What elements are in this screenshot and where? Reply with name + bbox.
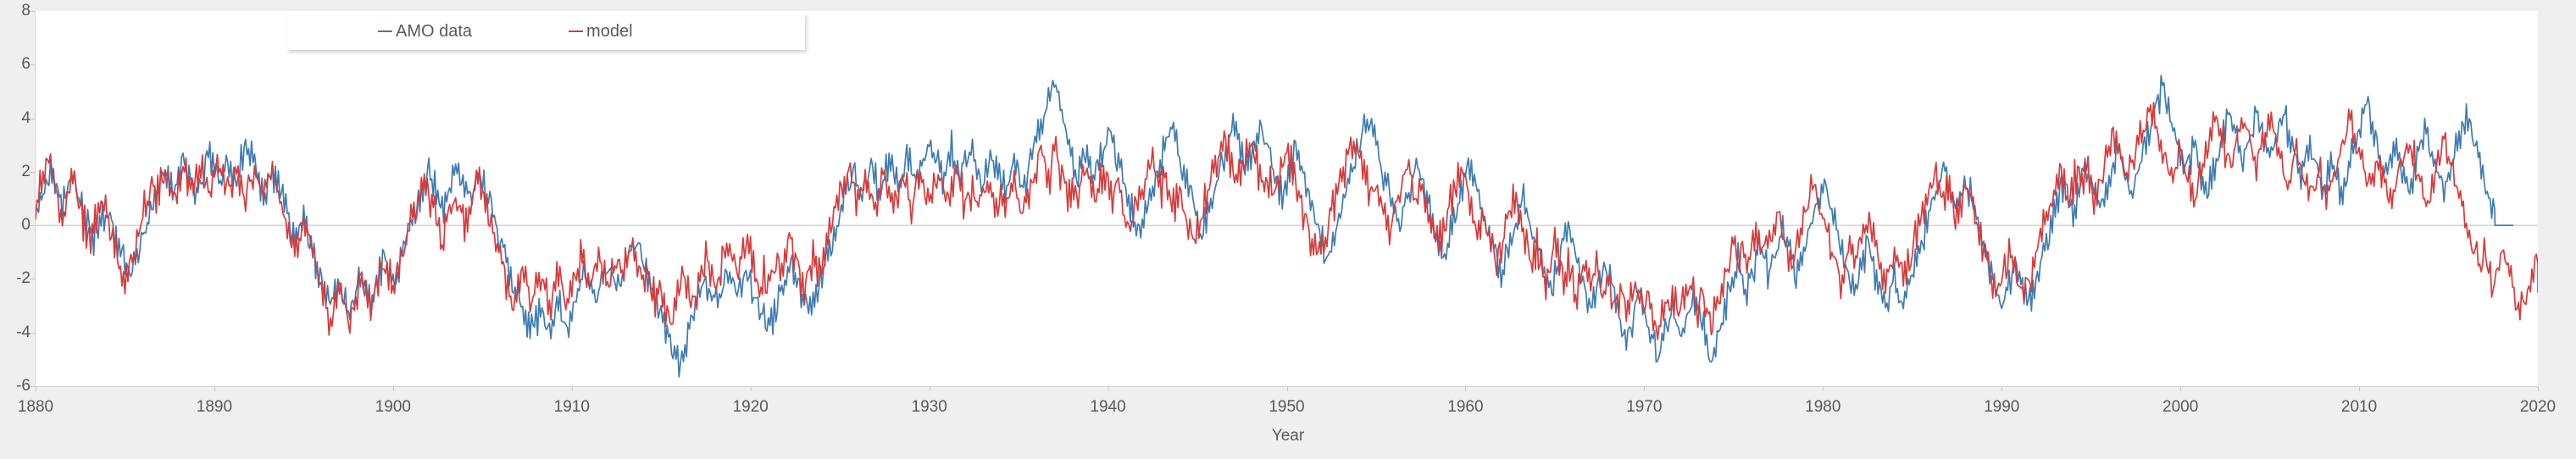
- x-tick-label: 1910: [538, 398, 606, 417]
- legend-label-model: model: [586, 23, 632, 40]
- y-tick-label: -4: [0, 324, 31, 340]
- y-tick-label: 2: [0, 163, 31, 180]
- y-tick-label: 8: [0, 3, 31, 19]
- x-axis-title: Year: [0, 427, 2576, 445]
- legend-item-model[interactable]: model: [569, 23, 632, 40]
- x-tick-mark: [2359, 386, 2360, 391]
- x-tick-mark: [214, 386, 215, 391]
- x-tick-mark: [1644, 386, 1645, 391]
- legend-swatch-model-icon: [569, 30, 583, 32]
- x-tick-mark: [1287, 386, 1288, 391]
- y-axis-line: [35, 11, 36, 387]
- y-tick-label: -6: [0, 378, 31, 394]
- x-tick-label: 1920: [717, 398, 785, 417]
- x-tick-mark: [2538, 386, 2539, 391]
- x-tick-label: 1980: [1789, 398, 1857, 417]
- series-line-amo-data: [36, 75, 2512, 377]
- x-tick-label: 1900: [359, 398, 427, 417]
- x-tick-label: 2020: [2504, 398, 2572, 417]
- x-tick-label: 1950: [1253, 398, 1321, 417]
- x-tick-label: 1940: [1074, 398, 1142, 417]
- x-tick-mark: [2180, 386, 2181, 391]
- legend-swatch-amo-data-icon: [378, 30, 392, 32]
- y-tick-label: -2: [0, 270, 31, 286]
- x-tick-mark: [751, 386, 752, 391]
- x-tick-mark: [2001, 386, 2002, 391]
- x-tick-mark: [393, 386, 394, 391]
- series-canvas: [36, 11, 2538, 386]
- plot-area: [36, 11, 2538, 386]
- x-tick-mark: [572, 386, 573, 391]
- x-tick-mark: [36, 386, 36, 391]
- x-tick-label: 2010: [2325, 398, 2393, 417]
- x-tick-label: 1960: [1431, 398, 1499, 417]
- chart-figure: 86420-2-4-6 1880189019001910192019301940…: [0, 0, 2576, 459]
- x-tick-label: 1970: [1610, 398, 1678, 417]
- x-tick-mark: [930, 386, 930, 391]
- chart-legend: AMO data model: [286, 13, 805, 50]
- x-tick-mark: [1465, 386, 1466, 391]
- y-tick-label: 4: [0, 110, 31, 126]
- legend-label-amo-data: AMO data: [396, 23, 472, 40]
- x-tick-mark: [1108, 386, 1109, 391]
- x-tick-label: 1890: [180, 398, 248, 417]
- x-tick-mark: [1823, 386, 1824, 391]
- x-tick-label: 1990: [1968, 398, 2035, 417]
- y-tick-label: 6: [0, 56, 31, 72]
- x-tick-label: 1880: [2, 398, 69, 417]
- legend-item-amo-data[interactable]: AMO data: [378, 23, 472, 40]
- y-tick-label: 0: [0, 217, 31, 233]
- x-tick-label: 2000: [2146, 398, 2214, 417]
- x-tick-label: 1930: [896, 398, 963, 417]
